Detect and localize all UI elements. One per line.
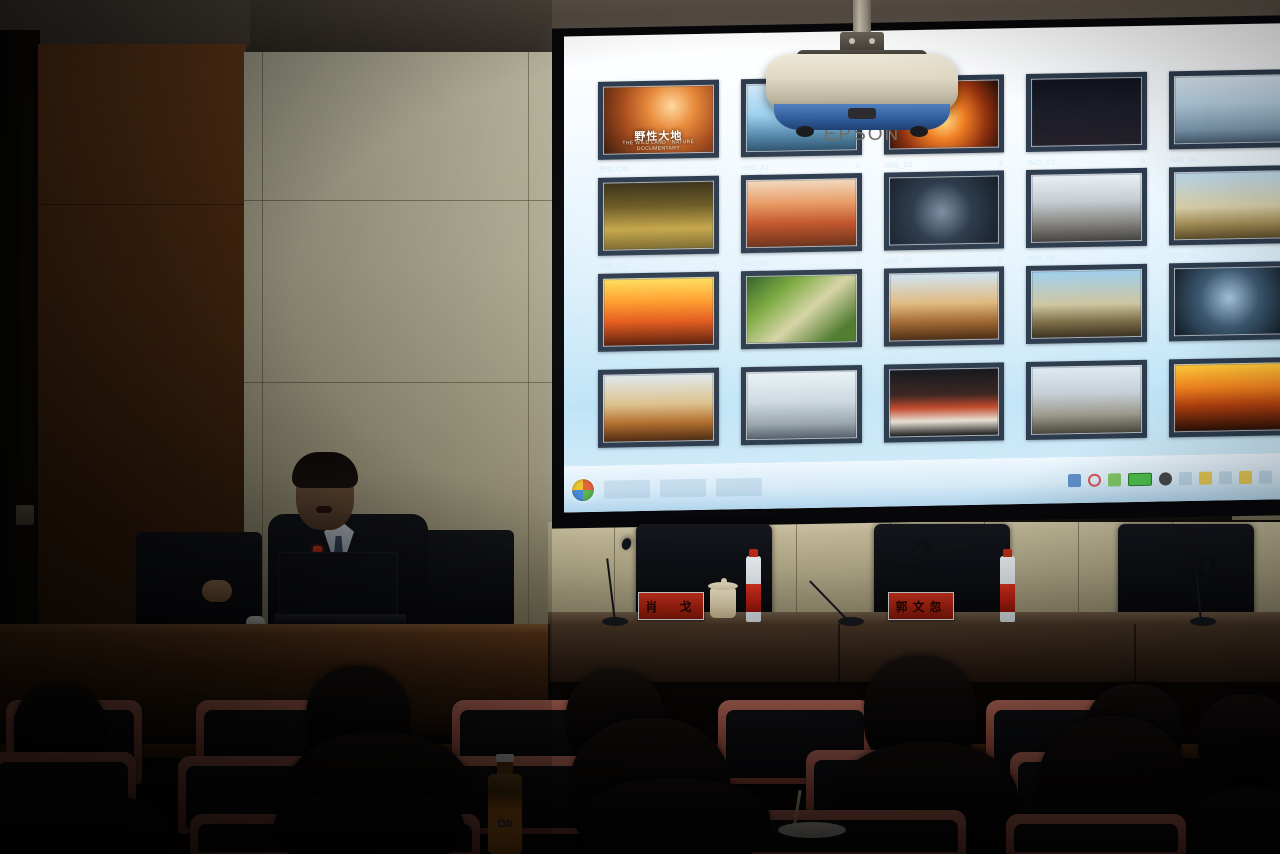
tray-misc-icon[interactable] bbox=[1219, 471, 1232, 484]
projector-foot bbox=[796, 126, 814, 137]
thumbnail-number: 2 bbox=[856, 163, 860, 170]
presenter-eye bbox=[306, 484, 315, 488]
windows-taskbar[interactable] bbox=[564, 453, 1280, 512]
thumbnail-caption: IMG_15 bbox=[599, 455, 627, 463]
thumbnail-number: 4 bbox=[1141, 158, 1145, 165]
tray-warning-icon[interactable] bbox=[1239, 471, 1252, 484]
thumbnail-item[interactable]: IMG_09 10 bbox=[1169, 165, 1280, 245]
tray-record-icon[interactable] bbox=[1088, 474, 1101, 487]
presenter-hair bbox=[292, 452, 358, 488]
soda-label: Ob bbox=[488, 818, 522, 830]
thumbnail-item[interactable]: IMG_18 19 bbox=[1026, 360, 1147, 440]
thumbnail-caption: IMG_09 bbox=[1170, 253, 1198, 261]
thumbnail-item[interactable]: IMG_08 9 bbox=[1026, 168, 1147, 248]
podium-chair[interactable] bbox=[136, 532, 262, 630]
thumbnail-caption: IMG_11 bbox=[742, 357, 769, 365]
thumbnail-number: 8 bbox=[998, 256, 1002, 263]
thumbnail-number: 12 bbox=[852, 355, 860, 362]
thumbnail-item[interactable]: IMG_11 12 bbox=[741, 269, 862, 349]
thumbnail-caption: IMG_01 bbox=[742, 165, 770, 173]
thumbnail-caption: IMG_05 bbox=[599, 263, 627, 271]
thumbnail-subtitle: THE WILD LAND · NATURE DOCUMENTARY bbox=[604, 138, 713, 152]
audience-head bbox=[0, 794, 170, 854]
thumbnail-item[interactable]: IMG_10 11 bbox=[598, 272, 719, 352]
nameplate: 肖 戈 bbox=[638, 592, 704, 620]
nameplate: 郭文忽 bbox=[888, 592, 954, 620]
taskbar-button[interactable] bbox=[716, 477, 762, 496]
battery-icon[interactable] bbox=[1128, 473, 1152, 486]
laptop-screen[interactable] bbox=[278, 552, 398, 620]
thumbnail-number: 9 bbox=[1141, 254, 1145, 261]
audience-head bbox=[1198, 694, 1280, 782]
thumbnail-number: 1 bbox=[713, 166, 717, 173]
tray-dark-icon[interactable] bbox=[1159, 472, 1172, 485]
taskbar-button[interactable] bbox=[604, 479, 650, 498]
tea-cup[interactable] bbox=[710, 588, 736, 618]
thumbnail-number: 19 bbox=[1137, 446, 1145, 453]
thumbnail-item[interactable]: IMG_19 20 bbox=[1169, 357, 1280, 437]
thumbnail-caption: IMG_18 bbox=[1027, 447, 1055, 455]
thumbnail-caption: IMG_17 bbox=[885, 450, 913, 458]
thumbnail-number: 13 bbox=[995, 352, 1003, 359]
thumbnail-number: 6 bbox=[713, 262, 717, 269]
system-tray[interactable] bbox=[1068, 470, 1272, 487]
taskbar-button[interactable] bbox=[660, 478, 706, 497]
paper-cup-saucer[interactable] bbox=[778, 812, 846, 838]
presenter-hand bbox=[202, 580, 232, 602]
thumbnail-number: 3 bbox=[998, 160, 1002, 167]
audience-seat[interactable] bbox=[1006, 814, 1186, 854]
audience-head bbox=[274, 790, 464, 854]
thumbnail-caption: IMG_16 bbox=[742, 453, 770, 461]
thumbnail-item[interactable]: 野性大地 THE WILD LAND · NATURE DOCUMENTARY … bbox=[598, 80, 719, 160]
thumbnail-item[interactable]: IMG_04 5 bbox=[1169, 69, 1280, 149]
thumbnail-caption: IMG_04 bbox=[1170, 157, 1198, 165]
thumbnail-caption: IMG_06 bbox=[742, 261, 770, 269]
thumbnail-caption: IMG_02 bbox=[885, 162, 913, 170]
projector-foot bbox=[910, 126, 928, 137]
thumbnail-number: 16 bbox=[709, 454, 717, 461]
thumbnail-number: 18 bbox=[995, 448, 1003, 455]
tray-misc-icon[interactable] bbox=[1179, 472, 1192, 485]
thumbnail-caption: IMG_08 bbox=[1027, 255, 1055, 263]
presenter-laptop[interactable] bbox=[278, 552, 406, 628]
thumbnail-number: 17 bbox=[852, 451, 860, 458]
thumbnail-caption: IMG_03 bbox=[1027, 159, 1055, 167]
saucer bbox=[778, 822, 846, 838]
thumbnail-item[interactable]: IMG_05 6 bbox=[598, 176, 719, 256]
audience-head bbox=[1190, 788, 1280, 854]
thumbnail-caption: IMG_12 bbox=[885, 354, 913, 362]
projector-lens bbox=[848, 108, 876, 119]
light-switch-plate[interactable] bbox=[16, 505, 34, 525]
presenter-mouth bbox=[316, 506, 332, 513]
thumbnail-item[interactable]: IMG_06 7 bbox=[741, 173, 862, 253]
thumbnail-caption: 野性大地 bbox=[599, 164, 629, 175]
panel-chair[interactable] bbox=[1118, 524, 1254, 616]
tray-warning-icon[interactable] bbox=[1199, 472, 1212, 485]
tray-misc-icon[interactable] bbox=[1259, 470, 1272, 483]
windows-start-orb-icon[interactable] bbox=[572, 478, 594, 500]
water-bottle[interactable] bbox=[1000, 556, 1015, 622]
thumbnail-caption: IMG_14 bbox=[1170, 349, 1198, 357]
thumbnail-item[interactable]: IMG_14 15 bbox=[1169, 261, 1280, 341]
audience-head bbox=[580, 778, 770, 854]
thumbnail-number: 11 bbox=[710, 358, 717, 365]
thumbnail-number: 7 bbox=[856, 259, 860, 266]
thumbnail-item[interactable]: IMG_13 14 bbox=[1026, 264, 1147, 344]
ceiling-projector: EPSON bbox=[766, 0, 958, 138]
thumbnail-item[interactable]: IMG_07 8 bbox=[884, 170, 1005, 250]
water-bottle[interactable] bbox=[746, 556, 761, 622]
laptop-keyboard-base[interactable] bbox=[274, 614, 406, 624]
thumbnail-item[interactable]: IMG_15 16 bbox=[598, 368, 719, 448]
audience-area bbox=[0, 690, 1280, 854]
thumbnail-caption: IMG_07 bbox=[885, 258, 913, 266]
thumbnail-caption: IMG_19 bbox=[1170, 445, 1198, 453]
tray-green-icon[interactable] bbox=[1108, 473, 1121, 486]
presenter-eye bbox=[330, 484, 339, 488]
conference-room-scene: 野性大地 THE WILD LAND · NATURE DOCUMENTARY … bbox=[0, 0, 1280, 854]
thumbnail-item[interactable]: IMG_17 18 bbox=[884, 362, 1005, 442]
tray-blue-icon[interactable] bbox=[1068, 474, 1081, 487]
thumbnail-number: 14 bbox=[1137, 350, 1145, 357]
thumbnail-caption: IMG_13 bbox=[1027, 351, 1055, 359]
thumbnail-item[interactable]: IMG_12 13 bbox=[884, 266, 1005, 346]
thumbnail-caption: IMG_10 bbox=[599, 359, 627, 367]
thumbnail-item[interactable]: IMG_03 4 bbox=[1026, 72, 1147, 152]
thumbnail-item[interactable]: IMG_16 17 bbox=[741, 365, 862, 445]
orange-soda-bottle[interactable]: Ob bbox=[488, 756, 522, 854]
